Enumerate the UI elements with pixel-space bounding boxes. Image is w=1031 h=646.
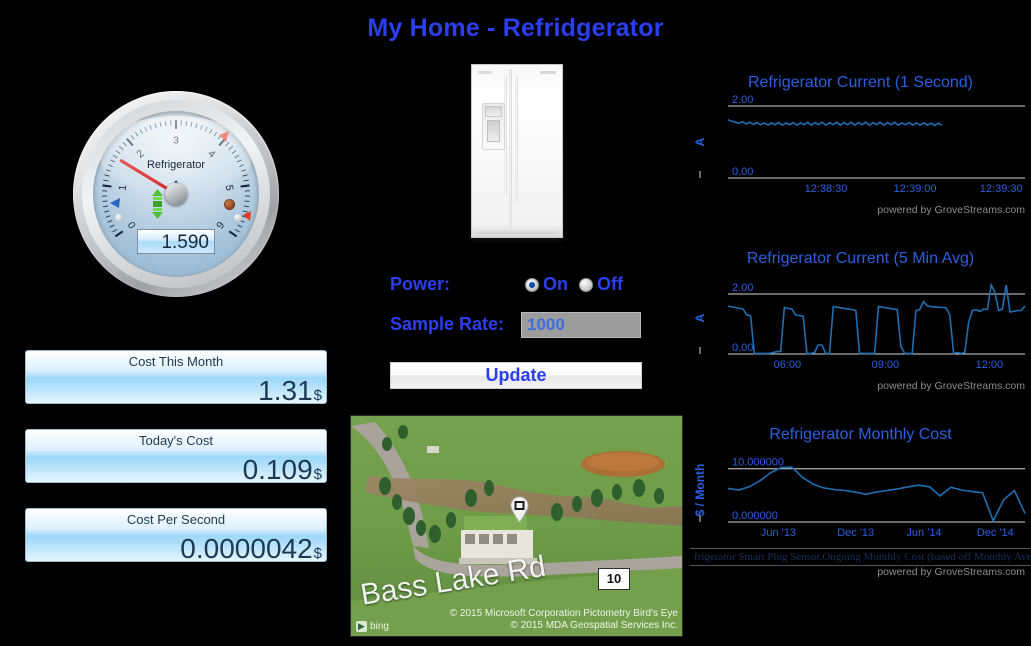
map-copyright-line-1: © 2015 Microsoft Corporation Pictometry …: [450, 608, 678, 620]
svg-text:09:00: 09:00: [872, 359, 900, 371]
cost-panel-value-row: 0.109 $: [243, 456, 322, 483]
chart-refrigerator-current-1s[interactable]: Refrigerator Current (1 Second) 0.002.00…: [690, 70, 1031, 235]
chart-svg: 0.002.0006:0009:0012:00A: [690, 268, 1031, 380]
chart-footer: powered by GroveStreams.com: [690, 566, 1031, 578]
cost-panel-unit: $: [314, 545, 322, 562]
svg-text:Dec '13: Dec '13: [837, 527, 874, 539]
cost-panel-month: Cost This Month 1.31 $: [25, 350, 327, 404]
cost-panel-per-second: Cost Per Second 0.0000042 $: [25, 508, 327, 562]
cost-panel-title: Cost This Month: [26, 354, 326, 369]
power-radio-off[interactable]: Off: [579, 274, 623, 295]
power-label: Power:: [390, 274, 450, 295]
map-device-pin[interactable]: [510, 496, 529, 522]
svg-text:A: A: [693, 137, 707, 146]
power-off-label: Off: [597, 274, 623, 295]
dashboard-root: My Home - Refridgerator 0123456 Refriger…: [0, 0, 1031, 646]
svg-text:06:00: 06:00: [774, 359, 802, 371]
cost-panel-value-row: 0.0000042 $: [180, 535, 322, 562]
map-copyright-line-2: © 2015 MDA Geospatial Services Inc.: [450, 620, 678, 632]
cost-panel-title: Today's Cost: [26, 433, 326, 448]
chart-refrigerator-current-5min[interactable]: Refrigerator Current (5 Min Avg) 0.002.0…: [690, 246, 1031, 411]
cost-panel-value: 0.0000042: [180, 535, 312, 562]
fridge-dispenser-well: [487, 120, 500, 142]
location-map[interactable]: 10 Bass Lake Rd ▶ bing © 2015 Microsoft …: [350, 415, 683, 637]
sample-rate-label: Sample Rate:: [390, 314, 504, 335]
cost-panel-value: 0.109: [243, 456, 313, 483]
svg-text:Jun '14: Jun '14: [906, 527, 941, 539]
radio-off-icon[interactable]: [579, 278, 593, 292]
cost-panel-title: Cost Per Second: [26, 512, 326, 527]
fridge-handle-right: [515, 75, 518, 203]
power-row: Power: On Off: [390, 270, 642, 304]
gauge-sensor-label: Refrigerator: [93, 159, 259, 171]
cost-panel-unit: $: [314, 387, 322, 404]
svg-text:0.000000: 0.000000: [732, 510, 778, 522]
svg-text:0.00: 0.00: [732, 342, 753, 354]
refrigerator-image: [471, 64, 563, 238]
radio-on-icon[interactable]: [525, 278, 539, 292]
cost-panel-value: 1.31: [258, 377, 313, 404]
svg-text:10.000000: 10.000000: [732, 457, 784, 469]
svg-text:2.00: 2.00: [732, 282, 753, 294]
fridge-logo-right-icon: [540, 71, 556, 74]
chart-footer: powered by GroveStreams.com: [690, 380, 1031, 392]
svg-text:Dec '14: Dec '14: [977, 527, 1014, 539]
svg-text:12:39:00: 12:39:00: [894, 183, 937, 195]
gauge-trend-arrows-icon: [150, 189, 165, 219]
chart-caption: frigerator Smart Plug Sensor.Ongoing Mon…: [690, 548, 1031, 566]
chart-footer: powered by GroveStreams.com: [690, 204, 1031, 216]
fridge-door-seam: [509, 69, 512, 229]
gauge-hub: [165, 183, 187, 205]
map-provider-logo[interactable]: ▶ bing: [356, 621, 389, 632]
sample-rate-row: Sample Rate:: [390, 310, 642, 344]
cost-panel-value-row: 1.31 $: [258, 377, 322, 404]
svg-text:A: A: [693, 313, 707, 322]
chart-plot-area: 0.002.0006:0009:0012:00A: [690, 268, 1031, 380]
svg-text:12:00: 12:00: [976, 359, 1004, 371]
svg-text:Jun '13: Jun '13: [761, 527, 796, 539]
chart-title: Refrigerator Current (5 Min Avg): [690, 246, 1031, 268]
fridge-ice-water-dispenser: [482, 103, 505, 150]
gauge-value-readout: 1.590: [137, 229, 215, 254]
chart-svg: 0.002.0012:38:3012:39:0012:39:30A: [690, 92, 1031, 204]
svg-text:12:39:30: 12:39:30: [980, 183, 1023, 195]
power-radio-on[interactable]: On: [525, 274, 568, 295]
power-on-label: On: [543, 274, 568, 295]
map-provider-name: bing: [370, 621, 389, 632]
chart-plot-area: 0.002.0012:38:3012:39:0012:39:30A: [690, 92, 1031, 204]
bing-logo-icon: ▶: [356, 621, 367, 632]
svg-text:3: 3: [173, 135, 179, 147]
sample-rate-input[interactable]: [521, 312, 641, 338]
gauge-dot-right-icon: [234, 214, 242, 222]
gauge-marker-max-icon: [243, 211, 251, 221]
current-gauge[interactable]: 0123456 Refrigerator A: [73, 91, 279, 297]
fridge-dispenser-controls: [485, 106, 502, 117]
update-button[interactable]: Update: [390, 362, 642, 389]
control-panel: Power: On Off Sample Rate:: [390, 270, 642, 344]
svg-text:$ / Month: $ / Month: [693, 464, 707, 517]
chart-title: Refrigerator Monthly Cost: [690, 422, 1031, 444]
chart-title: Refrigerator Current (1 Second): [690, 70, 1031, 92]
power-radio-group[interactable]: On Off: [525, 274, 623, 295]
gauge-status-led-icon: [224, 199, 235, 210]
chart-refrigerator-monthly-cost[interactable]: Refrigerator Monthly Cost 0.00000010.000…: [690, 422, 1031, 587]
map-route-shield: 10: [598, 568, 630, 590]
page-title: My Home - Refridgerator: [0, 14, 1031, 43]
cost-panel-unit: $: [314, 466, 322, 483]
svg-text:6: 6: [213, 219, 226, 231]
fridge-logo-left-icon: [478, 71, 492, 74]
fridge-base-grille: [476, 229, 558, 234]
chart-svg: 0.00000010.000000Jun '13Dec '13Jun '14De…: [690, 444, 1031, 548]
svg-text:2.00: 2.00: [732, 94, 753, 106]
map-copyright: © 2015 Microsoft Corporation Pictometry …: [450, 608, 678, 632]
cost-panel-today: Today's Cost 0.109 $: [25, 429, 327, 483]
gauge-dot-left-icon: [115, 214, 123, 222]
svg-text:12:38:30: 12:38:30: [805, 183, 848, 195]
svg-text:0.00: 0.00: [732, 166, 753, 178]
gauge-face: 0123456 Refrigerator A: [93, 111, 259, 277]
chart-plot-area: 0.00000010.000000Jun '13Dec '13Jun '14De…: [690, 444, 1031, 548]
gauge-marker-low-icon: [110, 198, 120, 208]
